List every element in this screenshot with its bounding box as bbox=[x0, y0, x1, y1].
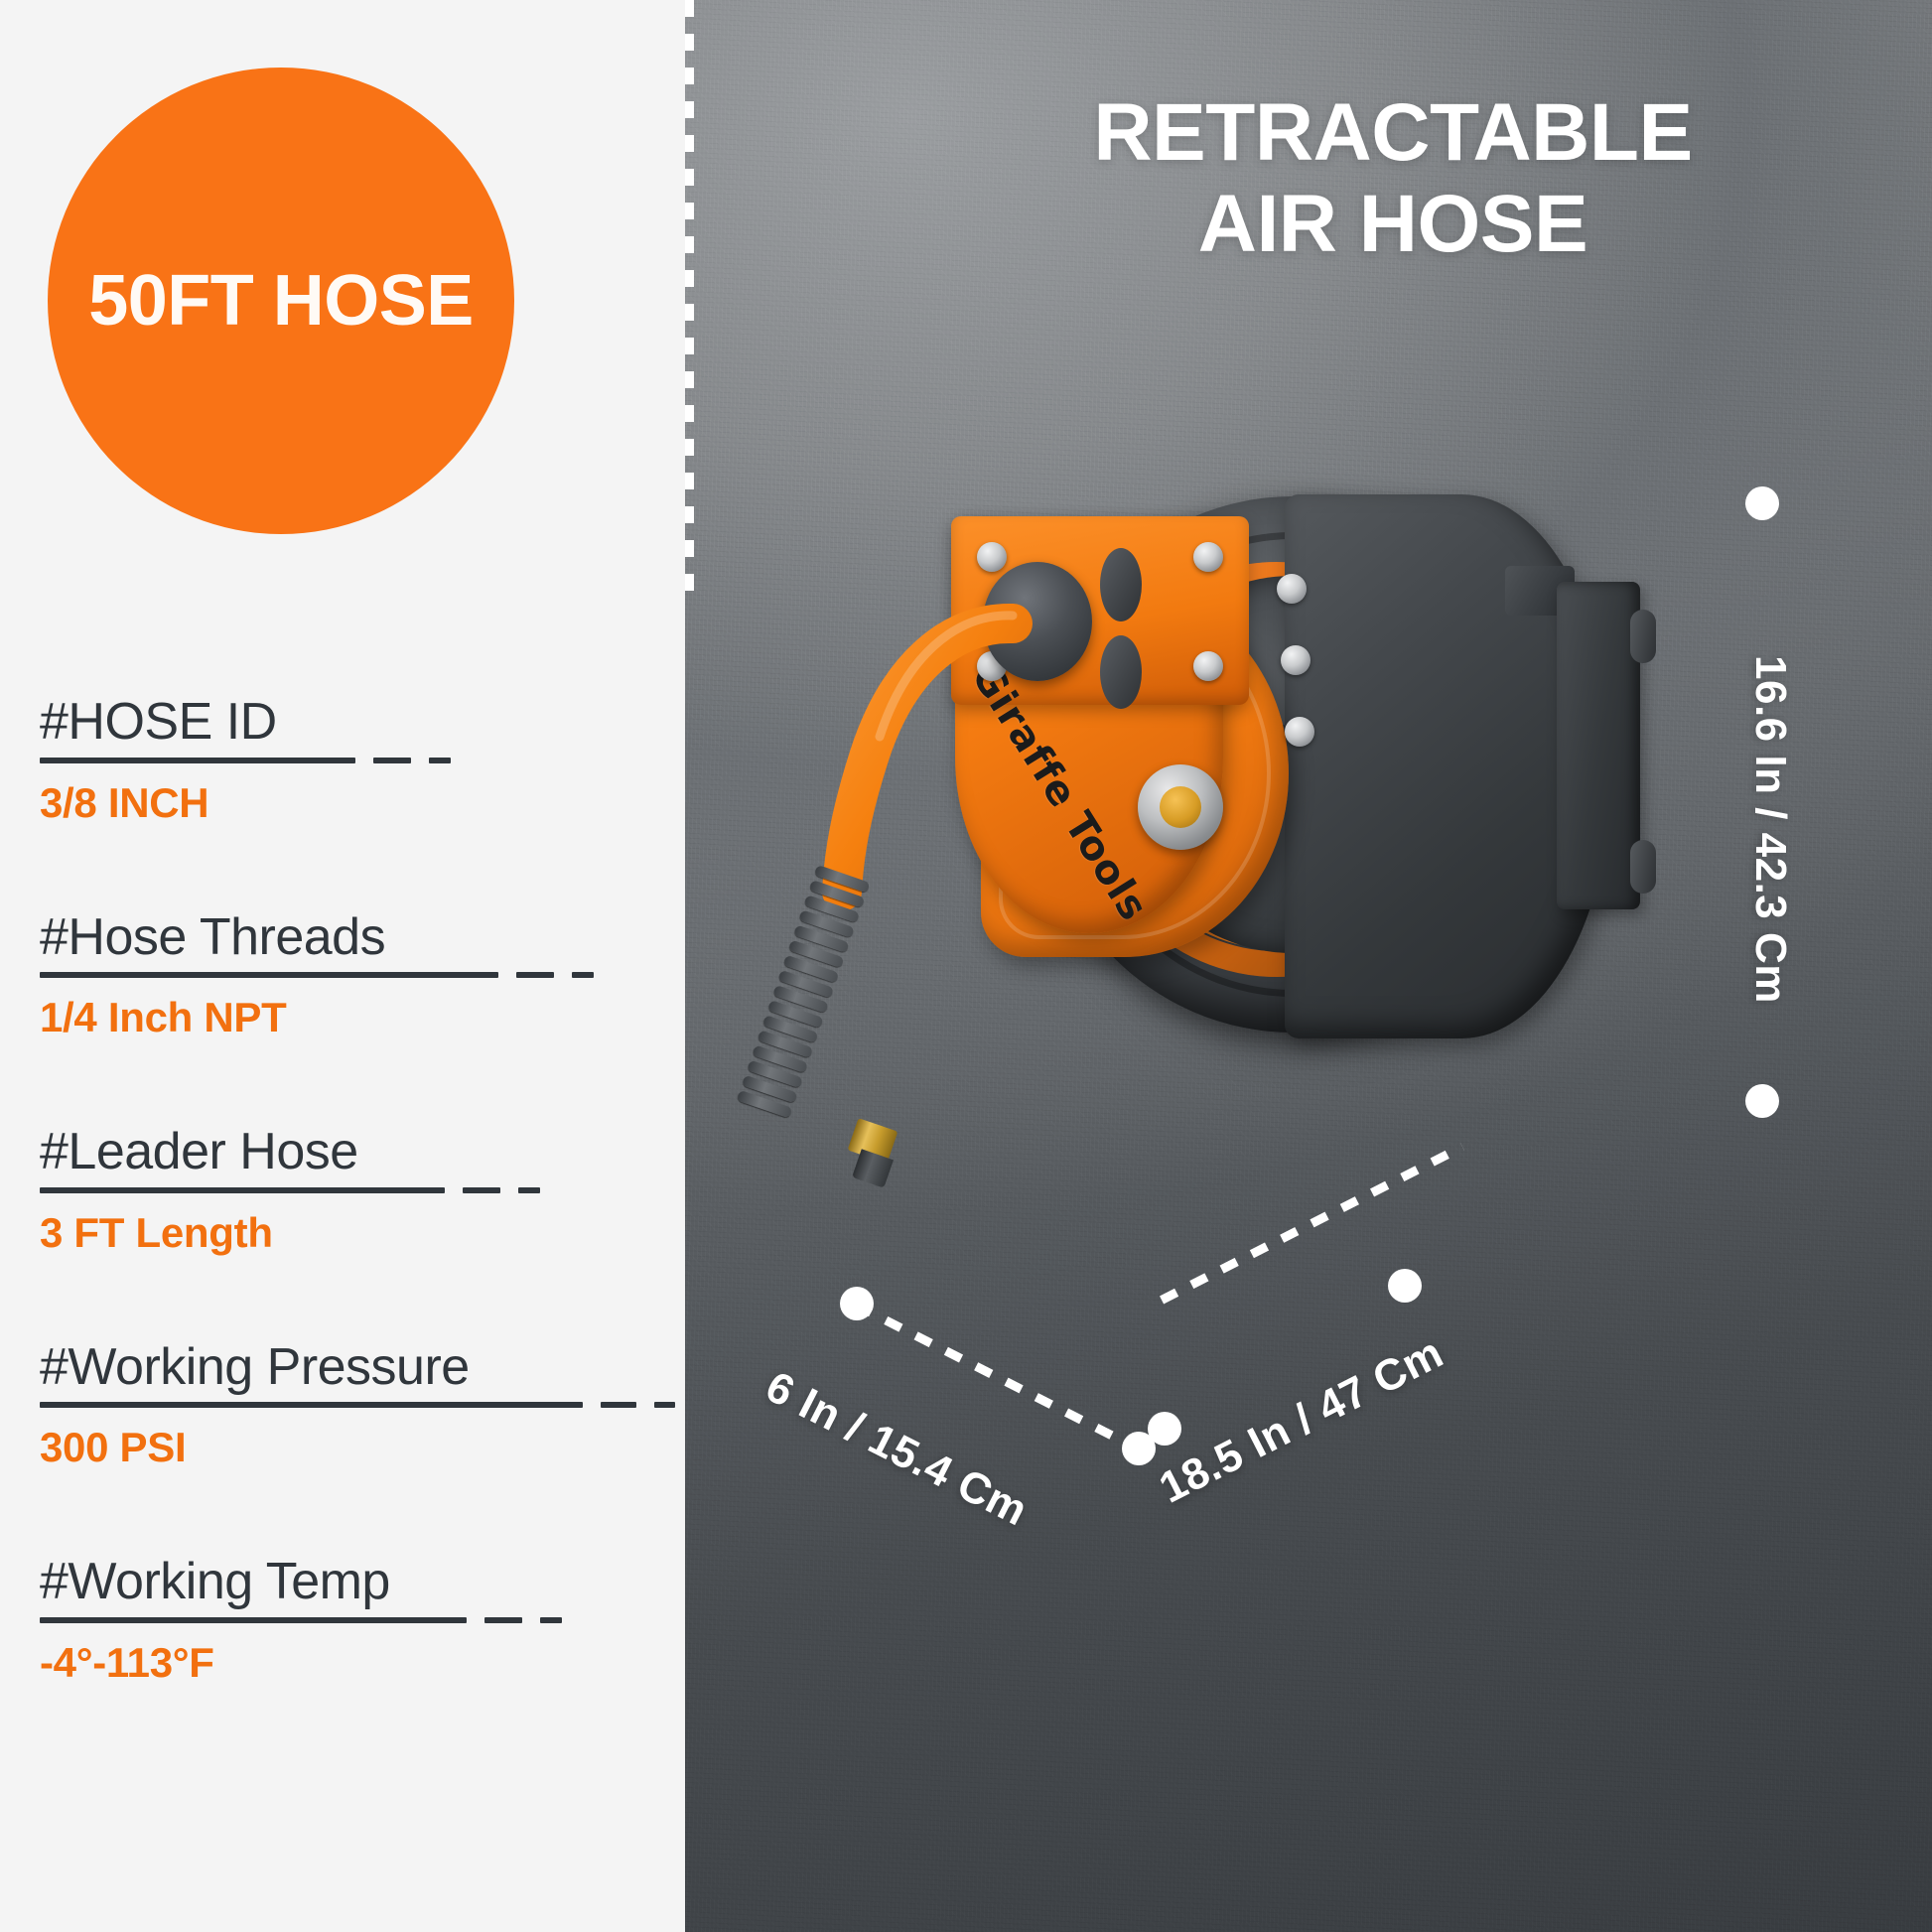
spec-title: #Working Temp bbox=[40, 1555, 675, 1609]
divider-dash-segment bbox=[601, 1402, 637, 1408]
product-scene-panel: RETRACTABLE AIR HOSE bbox=[685, 0, 1932, 1932]
divider-solid-segment bbox=[40, 1402, 583, 1408]
spec-value: 300 PSI bbox=[40, 1424, 675, 1471]
spec-item-leader-hose: #Leader Hose 3 FT Length bbox=[40, 1125, 675, 1257]
divider-dash-segment bbox=[516, 972, 554, 978]
spec-item-hose-id: #HOSE ID 3/8 INCH bbox=[40, 695, 675, 827]
spec-value: -4°-113°F bbox=[40, 1639, 675, 1687]
spec-title: #Working Pressure bbox=[40, 1340, 675, 1395]
divider-solid-segment bbox=[40, 972, 498, 978]
divider-dash-segment bbox=[373, 758, 411, 763]
hose-length-badge: 50FT HOSE bbox=[48, 68, 514, 534]
badge-label: 50FT HOSE bbox=[88, 260, 474, 342]
spec-value: 1/4 Inch NPT bbox=[40, 994, 675, 1041]
divider-dash-segment-short bbox=[518, 1187, 540, 1193]
divider-dash-segment-short bbox=[429, 758, 451, 763]
spec-divider bbox=[40, 1183, 675, 1197]
infographic-page: 50FT HOSE #HOSE ID 3/8 INCH #Hose Thread… bbox=[0, 0, 1932, 1932]
spec-value: 3 FT Length bbox=[40, 1209, 675, 1257]
spec-panel: 50FT HOSE #HOSE ID 3/8 INCH #Hose Thread… bbox=[0, 0, 685, 1932]
dimension-endpoint-dot bbox=[1388, 1269, 1422, 1303]
spec-title: #Hose Threads bbox=[40, 910, 675, 965]
spec-item-hose-threads: #Hose Threads 1/4 Inch NPT bbox=[40, 910, 675, 1042]
divider-solid-segment bbox=[40, 1617, 467, 1623]
divider-dash-segment bbox=[463, 1187, 500, 1193]
spec-item-working-temp: #Working Temp -4°-113°F bbox=[40, 1555, 675, 1687]
spec-value: 3/8 INCH bbox=[40, 779, 675, 827]
spec-divider bbox=[40, 1613, 675, 1627]
dimension-label-height: 16.6 In / 42.3 Cm bbox=[1745, 655, 1795, 1004]
spec-title: #Leader Hose bbox=[40, 1125, 675, 1179]
divider-solid-segment bbox=[40, 1187, 445, 1193]
spec-list: #HOSE ID 3/8 INCH #Hose Threads bbox=[40, 695, 675, 1687]
spec-divider bbox=[40, 754, 675, 767]
spec-divider bbox=[40, 968, 675, 982]
divider-dash-segment bbox=[484, 1617, 522, 1623]
divider-dash-segment-short bbox=[654, 1402, 675, 1408]
divider-dash-segment-short bbox=[572, 972, 594, 978]
spec-title: #HOSE ID bbox=[40, 695, 675, 750]
dimension-endpoint-dot bbox=[1745, 486, 1779, 520]
spec-divider bbox=[40, 1398, 675, 1412]
divider-solid-segment bbox=[40, 758, 355, 763]
dimension-endpoint-dot bbox=[1148, 1412, 1181, 1446]
spec-item-working-pressure: #Working Pressure 300 PSI bbox=[40, 1340, 675, 1472]
divider-dash-segment-short bbox=[540, 1617, 562, 1623]
dimension-endpoint-dot bbox=[1745, 1084, 1779, 1118]
leader-hose-path bbox=[842, 623, 1013, 892]
